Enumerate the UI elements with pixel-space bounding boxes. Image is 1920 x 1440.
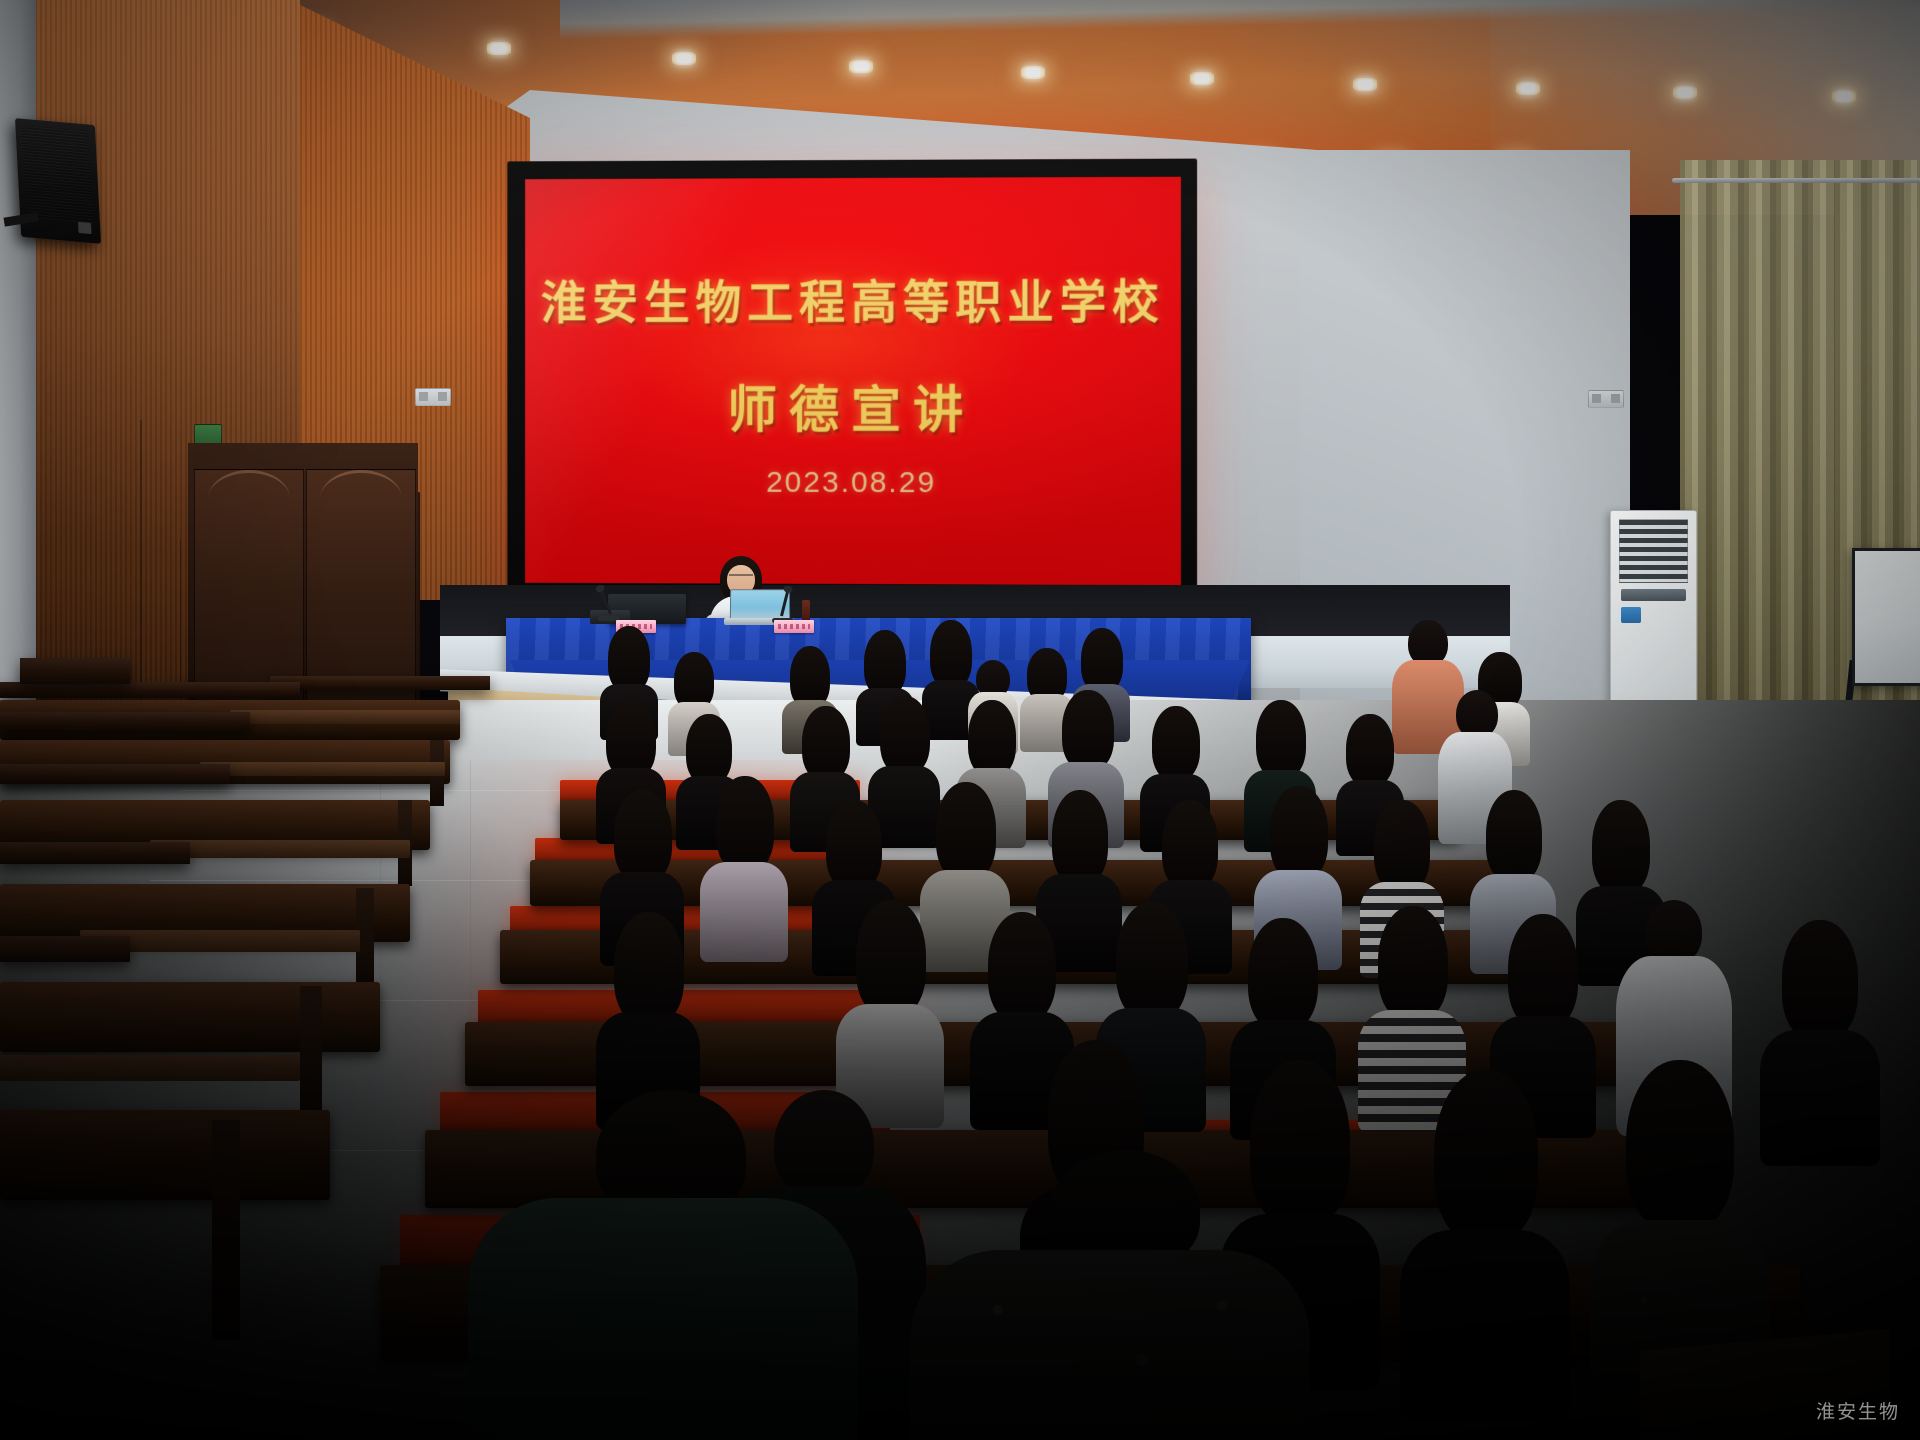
- led-screen-date: 2023.08.29: [525, 465, 1181, 500]
- nameplate: [774, 620, 814, 633]
- desk-surface: [200, 762, 445, 776]
- pa-speaker-icon: [15, 118, 101, 244]
- ceiling-downlight: [1353, 78, 1377, 91]
- led-screen: 淮安生物工程高等职业学校 师德宣讲 2023.08.29: [507, 159, 1197, 602]
- ceiling-downlight: [849, 60, 873, 73]
- presenter-glasses-icon: [729, 574, 753, 582]
- led-screen-title: 淮安生物工程高等职业学校: [525, 265, 1181, 332]
- desk: [0, 682, 300, 698]
- ceiling-downlight: [1673, 86, 1697, 99]
- desk-leg: [212, 1120, 240, 1340]
- desk-surface: [0, 1055, 300, 1081]
- desk: [0, 712, 250, 730]
- ceiling-downlight: [672, 52, 696, 65]
- wall-socket-icon: [1588, 390, 1624, 408]
- led-screen-subtitle: 师德宣讲: [525, 370, 1181, 442]
- audience-member-foreground: [468, 1090, 858, 1440]
- audience-torso: [910, 1250, 1310, 1440]
- led-screen-surface: 淮安生物工程高等职业学校 师德宣讲 2023.08.29: [525, 177, 1181, 586]
- wall-left-edge: [0, 0, 36, 760]
- wall-socket-icon: [415, 388, 451, 406]
- ac-grill-icon: [1619, 519, 1688, 583]
- ceiling-downlight: [1516, 82, 1540, 95]
- ceiling-downlight: [1190, 72, 1214, 85]
- whiteboard: [1852, 548, 1920, 686]
- ceiling-downlight: [1021, 66, 1045, 79]
- desk-stack-items: [20, 658, 130, 684]
- audience-member-foreground: [910, 1150, 1310, 1440]
- wall-panel-seam: [140, 420, 142, 720]
- audience-member: [1760, 920, 1880, 1160]
- desk-surface: [230, 710, 460, 724]
- ac-brand-badge: [1621, 607, 1641, 623]
- bench-row: [0, 982, 380, 1052]
- desk: [0, 764, 230, 784]
- air-conditioner: [1610, 510, 1697, 712]
- audience-member: [700, 776, 788, 956]
- audience-torso: [468, 1198, 858, 1440]
- ceiling-downlight: [487, 42, 511, 55]
- water-bottle: [802, 600, 810, 622]
- curtain-rod: [1672, 178, 1920, 183]
- bench-row: [0, 1110, 330, 1200]
- desk: [0, 936, 130, 962]
- audience-member: [1400, 1070, 1570, 1410]
- watermark: 淮安生物: [1816, 1397, 1900, 1424]
- audience-member: [836, 900, 944, 1120]
- ceiling-downlight: [1832, 90, 1856, 103]
- ac-control-panel[interactable]: [1621, 589, 1686, 601]
- desk: [0, 842, 190, 864]
- desk: [270, 676, 490, 690]
- door[interactable]: [188, 443, 418, 743]
- ceiling-cove-band: [560, 0, 1920, 40]
- floor-tile-seam: [180, 790, 600, 791]
- auditorium-photo: 淮安生物工程高等职业学校 师德宣讲 2023.08.29: [0, 0, 1920, 1440]
